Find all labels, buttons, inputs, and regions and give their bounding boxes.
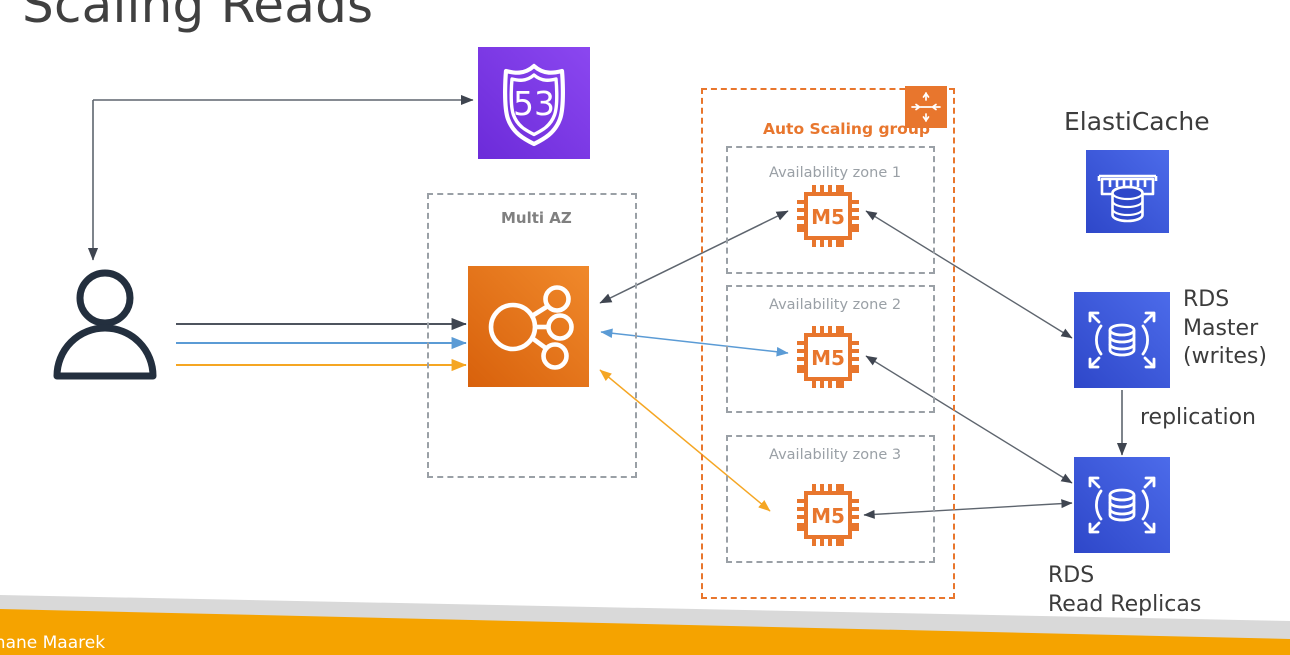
footer-author: phane Maarek xyxy=(0,633,105,653)
availability-zone-3-label: Availability zone 3 xyxy=(769,447,901,463)
elasticache-icon[interactable] xyxy=(1086,150,1169,233)
elasticache-label: ElastiCache xyxy=(1064,106,1210,139)
slide-canvas: Scaling Reads xyxy=(0,0,1290,655)
rds-read-replicas-icon[interactable] xyxy=(1074,457,1170,553)
rds-master-icon[interactable] xyxy=(1074,292,1170,388)
user-icon xyxy=(40,268,170,380)
auto-scaling-icon xyxy=(905,86,947,128)
footer: phane Maarek xyxy=(0,583,1290,655)
connector-user-route53 xyxy=(93,100,473,260)
availability-zone-1-label: Availability zone 1 xyxy=(769,165,901,181)
footer-bands xyxy=(0,583,1290,655)
page-title: Scaling Reads xyxy=(22,0,373,34)
route53-glyph: 53 xyxy=(513,84,555,123)
instance-label: M5 xyxy=(811,346,845,370)
multi-az-label: Multi AZ xyxy=(501,209,572,227)
ec2-instance-icon[interactable]: M5 xyxy=(792,180,864,252)
replication-label: replication xyxy=(1140,404,1256,433)
availability-zone-2-label: Availability zone 2 xyxy=(769,297,901,313)
instance-label: M5 xyxy=(811,205,845,229)
instance-label: M5 xyxy=(811,504,845,528)
ec2-instance-icon[interactable]: M5 xyxy=(792,321,864,393)
route53-icon[interactable]: 53 xyxy=(478,47,590,159)
elb-icon[interactable] xyxy=(468,266,589,387)
ec2-instance-icon[interactable]: M5 xyxy=(792,479,864,551)
rds-master-label: RDSMaster(writes) xyxy=(1183,286,1267,372)
